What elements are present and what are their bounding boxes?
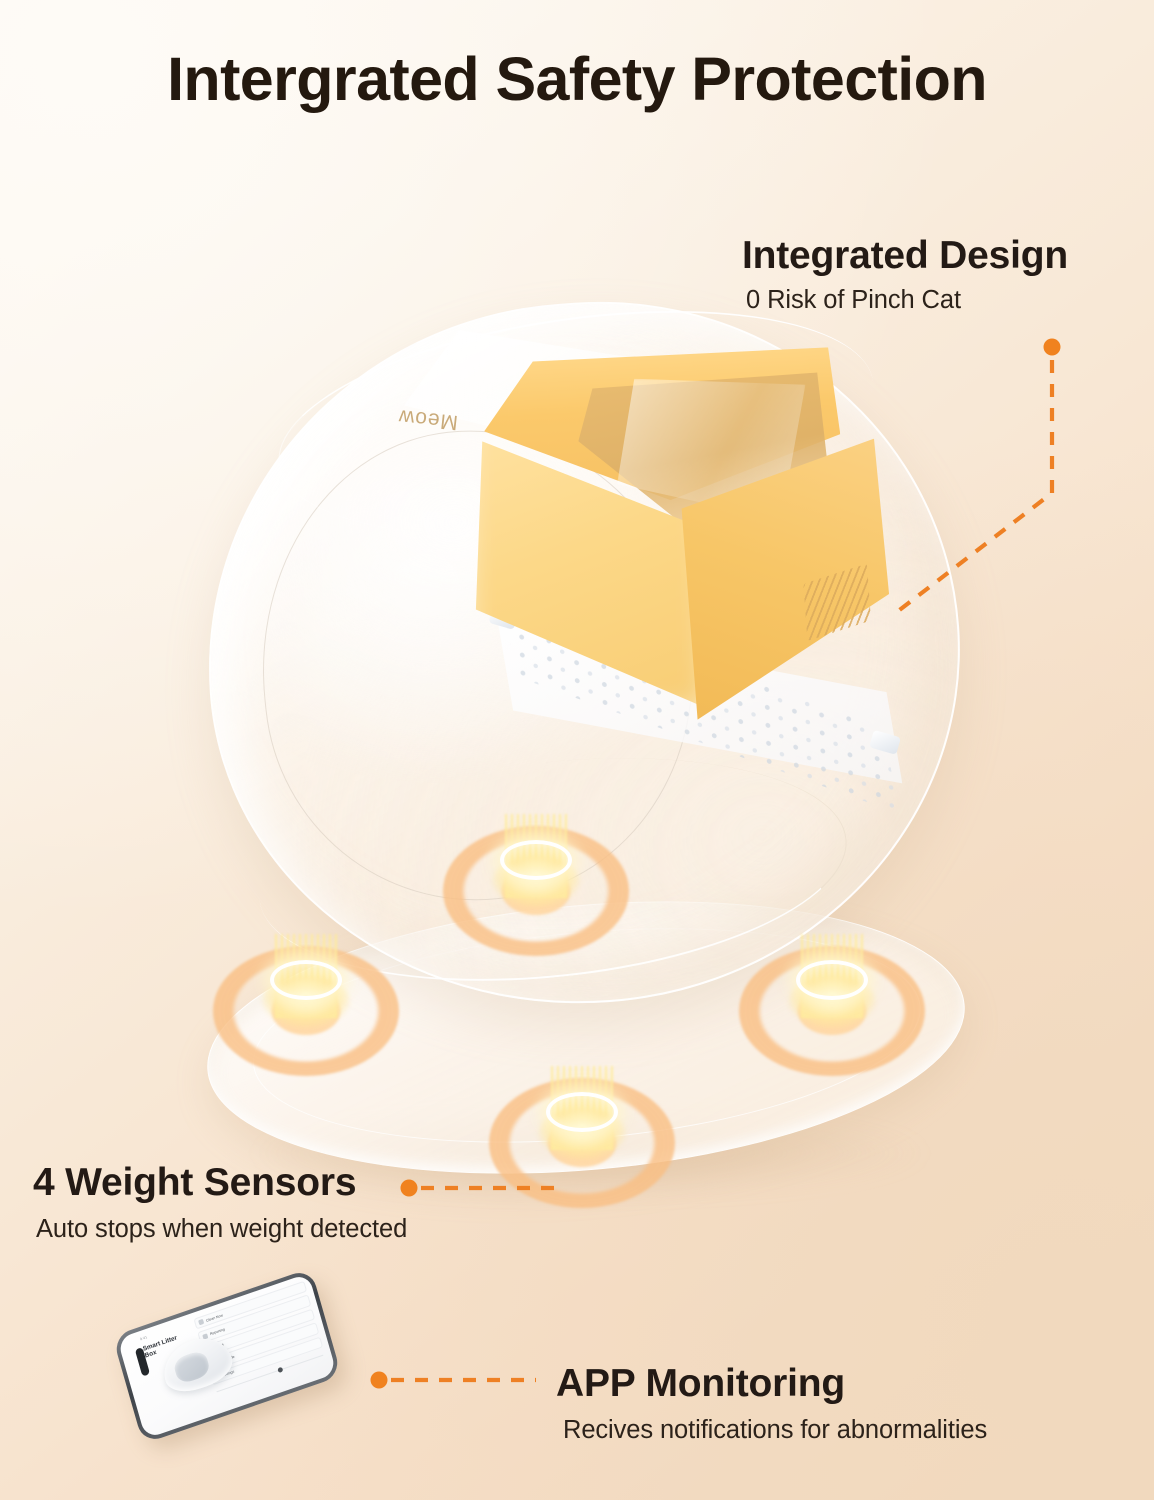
mesh-holes-pattern: [478, 550, 910, 879]
drawer-right-face: [680, 438, 891, 720]
sensor-beam: [551, 1066, 613, 1150]
sensor-halo: [213, 946, 399, 1076]
weighing-base-tray: [196, 872, 976, 1202]
product-illustration: Meow: [0, 0, 1154, 1500]
app-row-label: Clean Now: [206, 1313, 224, 1323]
app-row-label: Reporting: [210, 1327, 226, 1336]
sifting-mesh-panel: [479, 573, 908, 857]
mesh-holes-pattern-offset: [478, 550, 910, 879]
callout-app-monitoring: APP Monitoring Recives notifications for…: [556, 1364, 987, 1444]
dome-top-seam: [264, 277, 887, 568]
callout-app-monitoring-subtitle: Recives notifications for abnormalities: [563, 1416, 987, 1444]
page-title: Intergrated Safety Protection: [0, 44, 1154, 114]
drawer-glow: [459, 340, 898, 729]
infographic-canvas: Intergrated Safety Protection Meow: [0, 0, 1154, 1500]
mesh-right-bracket: [869, 730, 901, 755]
mesh-panel-surface: [479, 573, 908, 857]
phone-body: 9:41 Smart Litter Box Clean Now Reportin…: [112, 1268, 341, 1444]
weight-sensor-rear: [443, 826, 629, 956]
callout-integrated-design-subtitle: 0 Risk of Pinch Cat: [746, 286, 1068, 314]
drawer-top-face: [483, 347, 842, 503]
weight-sensor-left: [213, 946, 399, 1076]
sensor-ring: [270, 960, 342, 1000]
sensor-ring: [796, 960, 868, 1000]
callout-weight-sensors-subtitle: Auto stops when weight detected: [36, 1215, 407, 1243]
drawer-cavity: [577, 369, 830, 523]
sensor-halo: [739, 946, 925, 1076]
sensor-core-glow: [788, 976, 876, 1028]
sensor-ring: [546, 1092, 618, 1132]
connector-app-monitoring: [0, 0, 1154, 1500]
sensor-beam: [275, 934, 337, 1018]
drawer-left-face: [468, 408, 705, 712]
drawer-inner-liner: [615, 376, 808, 529]
callout-weight-sensors: 4 Weight Sensors Auto stops when weight …: [33, 1163, 407, 1243]
sensor-ring: [500, 840, 572, 880]
connector-path-integrated-design: [893, 360, 1052, 615]
transparent-dome: [185, 278, 984, 1029]
broom-icon: [198, 1319, 204, 1325]
yellow-waste-drawer: [465, 346, 891, 723]
brand-mark: Meow: [397, 404, 459, 434]
sensor-halo: [443, 826, 629, 956]
connector-dot-app-monitoring: [371, 1372, 388, 1389]
callout-integrated-design: Integrated Design 0 Risk of Pinch Cat: [742, 236, 1068, 314]
sensor-core-glow: [538, 1108, 626, 1160]
weight-sensor-right: [739, 946, 925, 1076]
mesh-left-bracket: [489, 605, 519, 629]
connector-integrated-design: [0, 0, 1154, 1500]
sensor-core-glow: [262, 976, 350, 1028]
callout-integrated-design-title: Integrated Design: [742, 236, 1068, 277]
drawer-vent-slots: [803, 563, 871, 640]
sensor-halo: [489, 1078, 675, 1208]
callout-app-monitoring-title: APP Monitoring: [556, 1364, 987, 1405]
phone-mockup: 9:41 Smart Litter Box Clean Now Reportin…: [82, 1296, 367, 1491]
dome-bottom-rim: [248, 732, 857, 1007]
dome-shell-flap: [404, 330, 654, 460]
weight-sensor-front: [489, 1078, 675, 1208]
connector-dot-integrated-design: [1044, 339, 1061, 356]
dome-inner-door: [239, 409, 716, 921]
phone-screen: 9:41 Smart Litter Box Clean Now Reportin…: [117, 1273, 337, 1439]
sensor-beam: [505, 814, 567, 898]
sensor-beam: [801, 934, 863, 1018]
sensor-core-glow: [492, 856, 580, 908]
connector-weight-sensors: [0, 0, 1154, 1500]
callout-weight-sensors-title: 4 Weight Sensors: [33, 1163, 407, 1204]
